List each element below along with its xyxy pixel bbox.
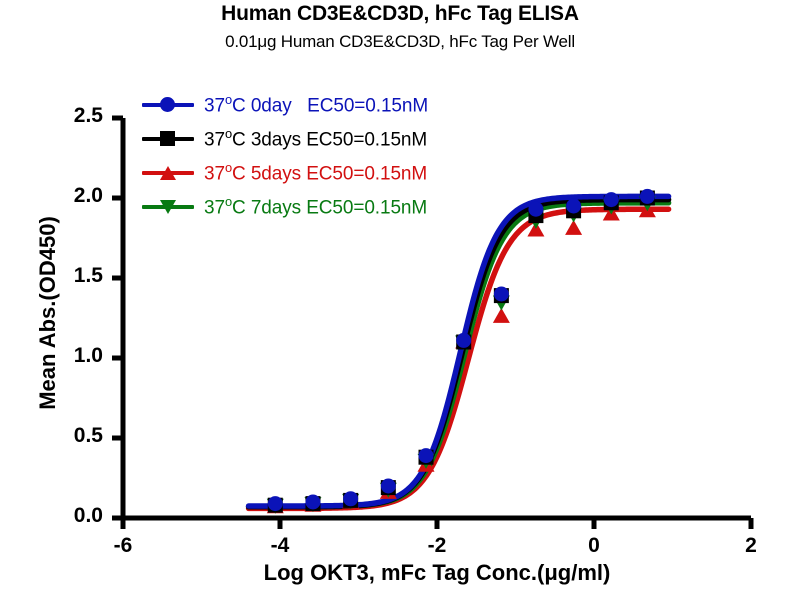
legend-swatch-3days [142,130,194,148]
x-tick-label: 2 [731,534,771,558]
circle-marker-icon [268,496,283,511]
y-tick-label: 0.5 [43,424,103,448]
y-tick-label: 1.0 [43,344,103,368]
y-tick-label: 2.0 [43,184,103,208]
circle-marker-icon [305,495,320,510]
x-axis-title: Log OKT3, mFc Tag Conc.(μg/ml) [123,560,751,586]
fit-curves [249,196,669,508]
legend-label-3days: 37oC 3days EC50=0.15nM [204,126,427,151]
x-tick-label: -6 [103,534,143,558]
circle-marker-icon [494,287,509,302]
elisa-chart-figure: Human CD3E&CD3D, hFc Tag ELISA 0.01μg Hu… [0,0,800,600]
circle-marker-icon [604,192,619,207]
legend-label-0day: 37oC 0day EC50=0.15nM [204,92,428,117]
y-axis-title: Mean Abs.(OD450) [35,173,61,453]
legend-item-0day[interactable]: 37oC 0day EC50=0.15nM [142,88,428,122]
triangle-up-marker-icon [160,166,176,180]
circle-marker-icon [160,97,175,112]
legend-item-3days[interactable]: 37oC 3days EC50=0.15nM [142,122,428,156]
chart-legend: 37oC 0day EC50=0.15nM 37oC 3days EC50=0.… [142,88,428,224]
y-tick-label: 2.5 [43,104,103,128]
circle-marker-icon [640,189,655,204]
y-tick-label: 0.0 [43,504,103,528]
x-tick-label: 0 [574,534,614,558]
legend-item-5days[interactable]: 37oC 5days EC50=0.15nM [142,156,428,190]
legend-swatch-7days [142,198,194,216]
triangle-down-marker-icon [160,200,176,214]
circle-marker-icon [419,448,434,463]
x-tick-label: -4 [260,534,300,558]
legend-label-7days: 37oC 7days EC50=0.15nM [204,194,427,219]
legend-label-5days: 37oC 5days EC50=0.15nM [204,160,427,185]
circle-marker-icon [343,491,358,506]
legend-item-7days[interactable]: 37oC 7days EC50=0.15nM [142,190,428,224]
circle-marker-icon [456,333,471,348]
circle-marker-icon [381,479,396,494]
square-marker-icon [160,131,175,146]
legend-swatch-5days [142,164,194,182]
x-tick-label: -2 [417,534,457,558]
circle-marker-icon [566,199,581,214]
circle-marker-icon [528,202,543,217]
legend-swatch-0day [142,96,194,114]
y-tick-label: 1.5 [43,264,103,288]
